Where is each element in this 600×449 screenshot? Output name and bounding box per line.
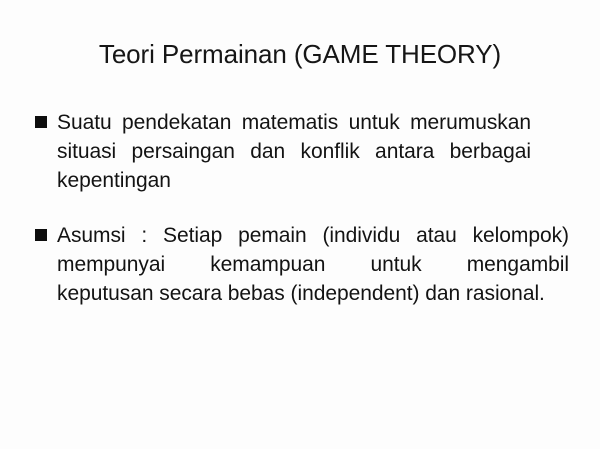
list-item-line: keputusan secara bebas (independent) dan… [57, 279, 569, 308]
bullet-list: Suatu pendekatan matematis untuk merumus… [0, 108, 600, 308]
list-item-line: Suatu pendekatan matematis untuk merumus… [57, 108, 531, 137]
square-bullet-icon [35, 229, 47, 241]
list-item: Asumsi : Setiap pemain (individu atau ke… [0, 221, 600, 308]
slide-canvas: Teori Permainan (GAME THEORY) Suatu pend… [0, 0, 600, 449]
list-item-line: Asumsi : Setiap pemain (individu atau ke… [57, 221, 569, 250]
list-item: Suatu pendekatan matematis untuk merumus… [0, 108, 600, 195]
list-item-line: situasi persaingan dan konflik antara be… [57, 137, 531, 166]
list-item-line: mempunyai kemampuan untuk mengambil [57, 250, 569, 279]
list-item-line: kepentingan [57, 169, 171, 192]
square-bullet-icon [35, 116, 47, 128]
list-item-text: Suatu pendekatan matematis untuk merumus… [57, 108, 531, 195]
list-item-text: Asumsi : Setiap pemain (individu atau ke… [57, 221, 569, 308]
page-title: Teori Permainan (GAME THEORY) [0, 38, 600, 70]
